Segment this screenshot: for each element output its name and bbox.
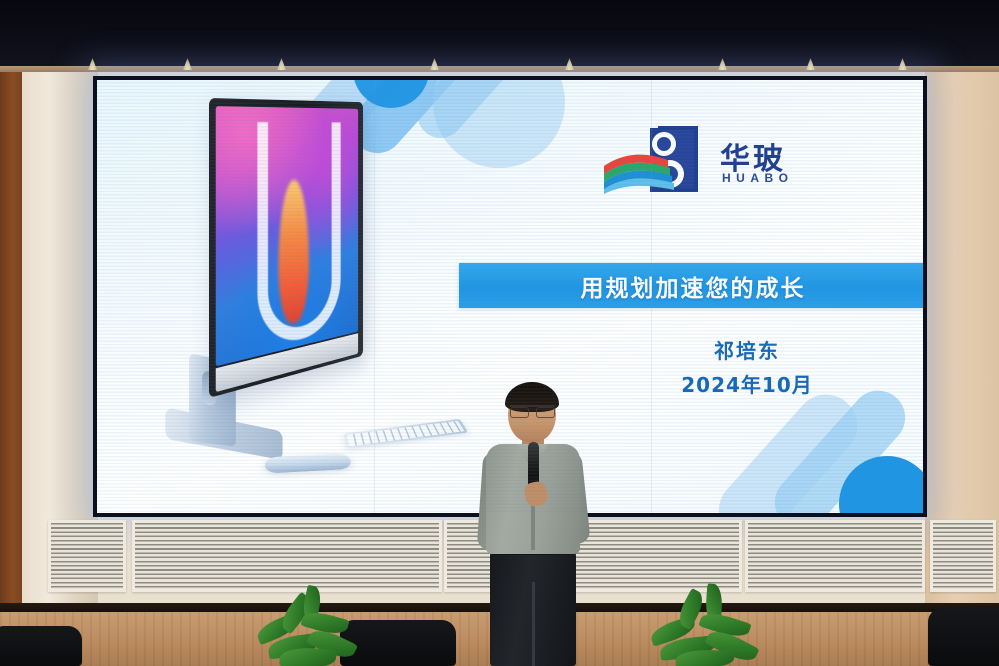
chair-back-right [928,608,999,666]
slide-title: 用规划加速您的成长 [581,269,806,303]
huabo-logo-mark-icon [602,122,714,196]
slide-title-bar: 用规划加速您的成长 [459,263,923,308]
imac-desktop-image [157,90,487,490]
presenter-info: 祁培东 2024年10月 [617,335,877,398]
glasses-icon [510,405,555,417]
magic-keyboard-icon [344,419,469,449]
logo-name-en: HUABO [722,171,794,185]
left-wood-panel [0,72,22,632]
air-vent-grille [48,520,126,592]
huabo-logo: 华玻 HUABO [602,122,812,200]
air-vent-grille [745,520,925,592]
potted-plant-right [640,592,770,666]
conference-hall-scene: 华玻 HUABO 用规划加速您的成长 祁培东 2024年10月 [0,0,999,666]
magic-mouse-icon [265,453,353,474]
imac-wallpaper [216,106,358,366]
imac-display [209,98,363,398]
chair-back-left [0,626,82,666]
presentation-date: 2024年10月 [617,369,877,398]
air-vent-grille [930,520,996,592]
air-vent-grille [132,520,442,592]
presenter-speaker [470,386,598,666]
ceiling [0,0,999,72]
presenter-name: 祁培东 [617,335,877,364]
potted-plant-left [250,594,370,666]
